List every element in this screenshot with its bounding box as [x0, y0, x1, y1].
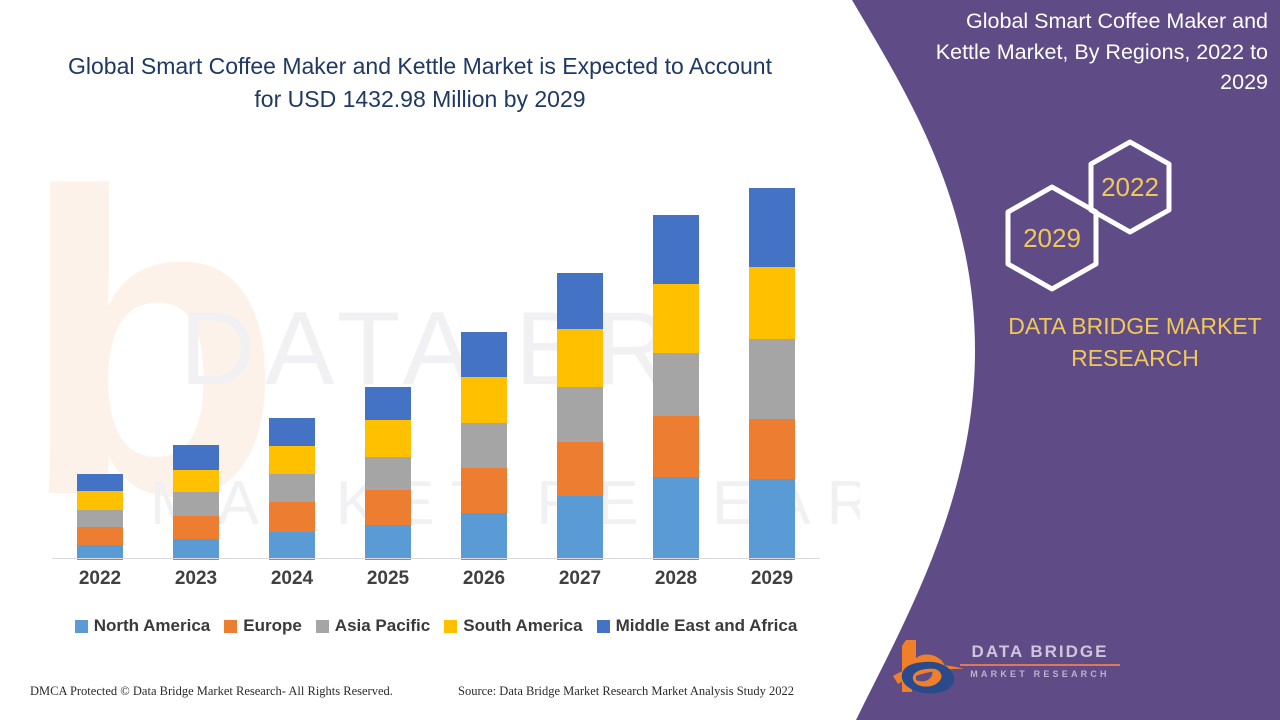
bar-group-2023[interactable] [173, 445, 219, 560]
hexagon-end-year-label: 2029 [1023, 223, 1081, 254]
x-axis-label-2026: 2026 [444, 568, 524, 590]
bar-group-2027[interactable] [557, 273, 603, 560]
legend-label: Middle East and Africa [616, 616, 798, 636]
bar-group-2025[interactable] [365, 387, 411, 560]
bar-segment[interactable] [749, 479, 795, 560]
bar-segment[interactable] [365, 420, 411, 457]
stacked-bar-plot [52, 160, 820, 560]
logo-divider [960, 664, 1120, 666]
bar-segment[interactable] [269, 532, 315, 560]
legend-item-europe[interactable]: Europe [224, 616, 302, 636]
bar-segment[interactable] [269, 502, 315, 532]
bar-segment[interactable] [77, 474, 123, 491]
x-axis-label-2029: 2029 [732, 568, 812, 590]
x-axis-label-2022: 2022 [60, 568, 140, 590]
legend-swatch-icon [444, 620, 457, 633]
hexagon-start-year-label: 2022 [1101, 172, 1159, 203]
bar-group-2026[interactable] [461, 332, 507, 560]
bar-group-2022[interactable] [77, 474, 123, 560]
source-note: Source: Data Bridge Market Research Mark… [458, 684, 794, 699]
bar-segment[interactable] [269, 446, 315, 474]
bar-segment[interactable] [365, 387, 411, 420]
chart-title: Global Smart Coffee Maker and Kettle Mar… [60, 50, 780, 117]
bar-segment[interactable] [557, 329, 603, 387]
legend-item-middle-east-and-africa[interactable]: Middle East and Africa [597, 616, 798, 636]
x-axis-label-2025: 2025 [348, 568, 428, 590]
legend-label: Europe [243, 616, 302, 636]
logo-line-1: DATA BRIDGE [960, 642, 1120, 662]
bar-segment[interactable] [653, 416, 699, 477]
bar-segment[interactable] [749, 267, 795, 339]
bar-segment[interactable] [365, 490, 411, 524]
bar-group-2028[interactable] [653, 215, 699, 560]
bar-segment[interactable] [557, 496, 603, 561]
bar-segment[interactable] [77, 527, 123, 545]
legend-label: Asia Pacific [335, 616, 430, 636]
x-axis-line [52, 558, 820, 559]
legend-item-asia-pacific[interactable]: Asia Pacific [316, 616, 430, 636]
bar-segment[interactable] [77, 510, 123, 527]
bar-segment[interactable] [557, 273, 603, 329]
bar-segment[interactable] [269, 418, 315, 446]
legend-swatch-icon [75, 620, 88, 633]
legend-swatch-icon [224, 620, 237, 633]
bar-segment[interactable] [461, 423, 507, 467]
bar-segment[interactable] [653, 353, 699, 416]
bar-segment[interactable] [461, 468, 507, 513]
footer: DMCA Protected © Data Bridge Market Rese… [0, 684, 860, 710]
dmca-notice: DMCA Protected © Data Bridge Market Rese… [30, 684, 393, 699]
x-axis-label-2027: 2027 [540, 568, 620, 590]
bar-segment[interactable] [365, 457, 411, 490]
bar-segment[interactable] [557, 442, 603, 496]
bar-segment[interactable] [461, 377, 507, 423]
bar-segment[interactable] [365, 525, 411, 560]
bar-segment[interactable] [749, 188, 795, 266]
legend-item-south-america[interactable]: South America [444, 616, 582, 636]
bar-segment[interactable] [77, 491, 123, 509]
bar-group-2029[interactable] [749, 188, 795, 560]
infographic-canvas: b DATA BRI MARKET RESEARCH Global Smart … [0, 0, 1280, 720]
x-axis-label-2024: 2024 [252, 568, 332, 590]
bar-segment[interactable] [557, 387, 603, 442]
bar-segment[interactable] [749, 419, 795, 479]
legend-swatch-icon [316, 620, 329, 633]
x-axis-labels: 20222023202420252026202720282029 [52, 568, 820, 598]
legend-swatch-icon [597, 620, 610, 633]
bar-segment[interactable] [173, 445, 219, 470]
hexagon-end-year: 2029 [1000, 182, 1104, 294]
bar-segment[interactable] [653, 477, 699, 560]
bar-segment[interactable] [653, 215, 699, 284]
chart-legend: North AmericaEuropeAsia PacificSouth Ame… [52, 616, 820, 636]
bar-group-2024[interactable] [269, 418, 315, 560]
bar-segment[interactable] [173, 470, 219, 493]
logo-wordmark: DATA BRIDGE MARKET RESEARCH [960, 642, 1120, 679]
logo-line-2: MARKET RESEARCH [960, 669, 1120, 679]
bar-segment[interactable] [173, 492, 219, 516]
bar-segment[interactable] [461, 513, 507, 560]
bar-segment[interactable] [173, 516, 219, 539]
legend-label: North America [94, 616, 211, 636]
brand-name: DATA BRIDGE MARKET RESEARCH [990, 310, 1280, 374]
legend-item-north-america[interactable]: North America [75, 616, 211, 636]
panel-title: Global Smart Coffee Maker and Kettle Mar… [920, 6, 1268, 98]
bar-segment[interactable] [461, 332, 507, 377]
x-axis-label-2028: 2028 [636, 568, 716, 590]
bar-segment[interactable] [173, 539, 219, 561]
bar-segment[interactable] [653, 284, 699, 353]
bar-segment[interactable] [269, 474, 315, 502]
bar-segment[interactable] [749, 339, 795, 420]
legend-label: South America [463, 616, 582, 636]
x-axis-label-2023: 2023 [156, 568, 236, 590]
